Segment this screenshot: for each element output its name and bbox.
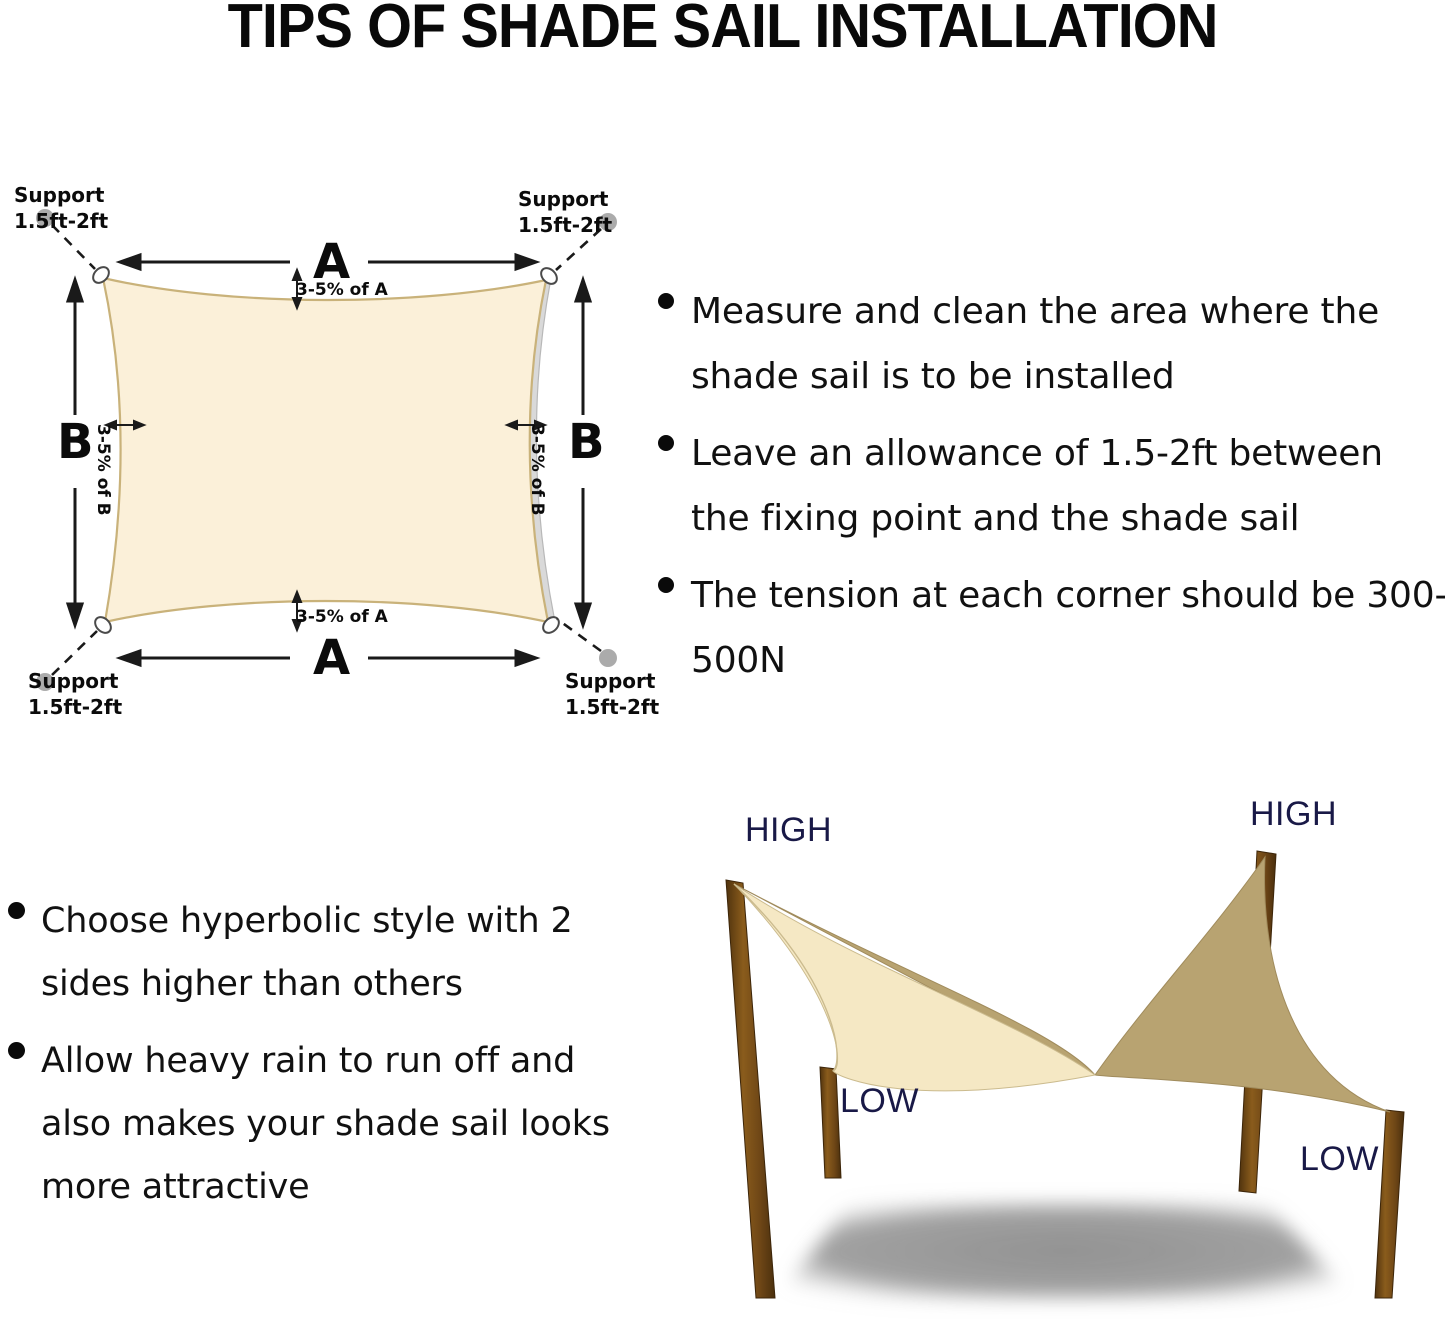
dimension-label-right-B: B xyxy=(568,418,605,466)
bullet-dot-icon xyxy=(658,435,674,451)
curve-note-right: 3-5% of B xyxy=(528,424,546,516)
page-title: TIPS OF SHADE SAIL INSTALLATION xyxy=(51,0,1395,60)
label-low-right: LOW xyxy=(1300,1140,1379,1179)
list-item-text: Measure and clean the area where the sha… xyxy=(691,279,1445,409)
sail-body xyxy=(103,278,548,622)
list-item: Measure and clean the area where the sha… xyxy=(658,279,1445,409)
list-item: Allow heavy rain to run off and also mak… xyxy=(8,1030,628,1219)
curve-note-left: 3-5% of B xyxy=(94,424,112,516)
ground-shadow xyxy=(775,1203,1355,1299)
list-item-text: Leave an allowance of 1.5-2ft between th… xyxy=(691,421,1445,551)
support-label-line2: 1.5ft-2ft xyxy=(28,695,122,719)
label-high-left: HIGH xyxy=(745,811,832,850)
dimension-label-bottom-A: A xyxy=(313,634,350,682)
list-item-text: Choose hyperbolic style with 2 sides hig… xyxy=(41,890,628,1016)
dimension-label-left-B: B xyxy=(57,418,94,466)
support-label-line1: Support xyxy=(28,669,118,693)
list-item-text: The tension at each corner should be 300… xyxy=(691,563,1445,693)
support-label-top-right: Support 1.5ft-2ft xyxy=(518,186,612,238)
list-item-text: Allow heavy rain to run off and also mak… xyxy=(41,1030,628,1219)
hyperbolic-shade-sail-illustration xyxy=(655,779,1445,1319)
post-low-right xyxy=(1375,1110,1404,1298)
bullet-dot-icon xyxy=(8,1042,25,1059)
label-low-left: LOW xyxy=(840,1082,919,1121)
dimension-label-top-A: A xyxy=(313,238,350,286)
support-label-line2: 1.5ft-2ft xyxy=(565,695,659,719)
curve-note-top: 3-5% of A xyxy=(296,281,388,299)
list-item: The tension at each corner should be 300… xyxy=(658,563,1445,693)
hyperbolic-style-tips-list: Choose hyperbolic style with 2 sides hig… xyxy=(8,890,628,1233)
label-high-right: HIGH xyxy=(1250,795,1337,834)
curve-note-bottom: 3-5% of A xyxy=(296,608,388,626)
post-high-left xyxy=(726,880,775,1298)
support-label-line1: Support xyxy=(565,669,655,693)
support-label-line2: 1.5ft-2ft xyxy=(518,213,612,237)
support-label-bottom-left: Support 1.5ft-2ft xyxy=(28,668,122,720)
support-label-bottom-right: Support 1.5ft-2ft xyxy=(565,668,659,720)
bullet-dot-icon xyxy=(8,902,25,919)
support-label-line1: Support xyxy=(518,187,608,211)
support-label-top-left: Support 1.5ft-2ft xyxy=(14,182,108,234)
support-label-line1: Support xyxy=(14,183,104,207)
installation-tips-list: Measure and clean the area where the sha… xyxy=(658,279,1445,705)
bullet-dot-icon xyxy=(658,577,674,593)
post-low-left xyxy=(820,1067,841,1178)
sail-panel-light xyxy=(734,884,1095,1091)
bullet-dot-icon xyxy=(658,293,674,309)
list-item: Leave an allowance of 1.5-2ft between th… xyxy=(658,421,1445,551)
support-label-line2: 1.5ft-2ft xyxy=(14,209,108,233)
list-item: Choose hyperbolic style with 2 sides hig… xyxy=(8,890,628,1016)
